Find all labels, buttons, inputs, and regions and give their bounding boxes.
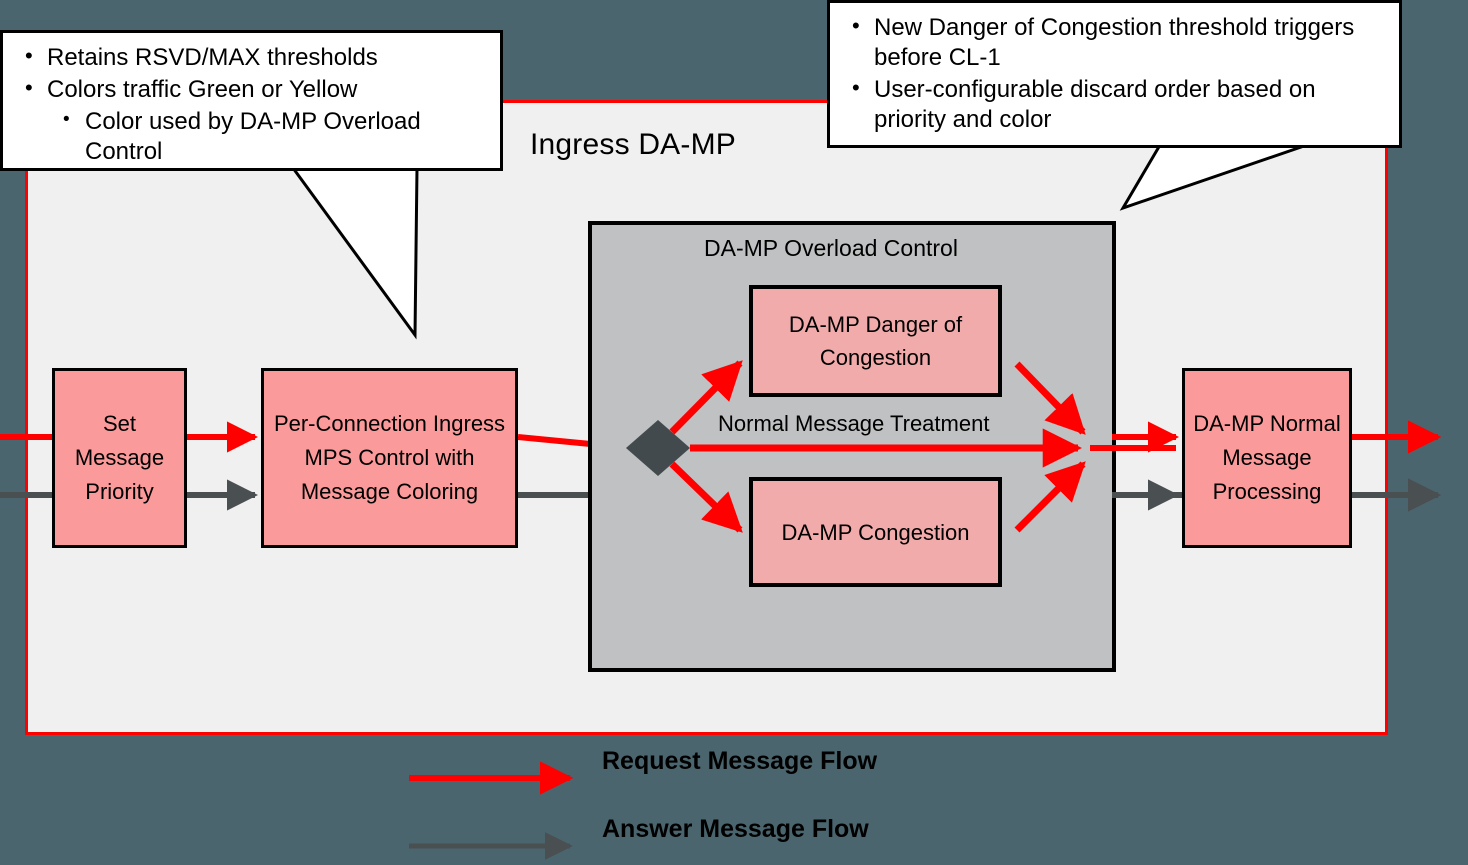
- callout-right-bullet-2: User-configurable discard order based on…: [844, 75, 1385, 135]
- callout-left-bullets: Retains RSVD/MAX thresholds Colors traff…: [17, 43, 486, 167]
- callout-right-bullet-1: New Danger of Congestion threshold trigg…: [844, 13, 1385, 73]
- callout-right: New Danger of Congestion threshold trigg…: [827, 0, 1402, 148]
- callout-right-bullets: New Danger of Congestion threshold trigg…: [844, 13, 1385, 135]
- callout-left-tail: [293, 168, 417, 335]
- diagram-canvas: Ingress DA-MP DA-MP Overload Control Nor…: [0, 0, 1468, 865]
- callout-left-bullet-1: Retains RSVD/MAX thresholds: [17, 43, 486, 73]
- callout-right-tail: [1123, 145, 1307, 208]
- callout-left: Retains RSVD/MAX thresholds Colors traff…: [0, 30, 503, 171]
- callout-left-bullet-2: Colors traffic Green or Yellow: [17, 75, 486, 105]
- callout-left-bullet-3: Color used by DA-MP Overload Control: [17, 107, 486, 167]
